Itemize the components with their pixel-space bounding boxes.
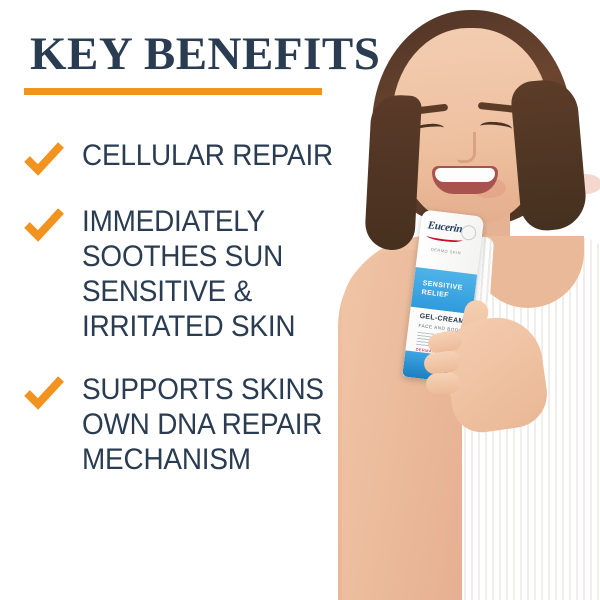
- model-hair-lock-left: [364, 94, 422, 251]
- checkmark-icon: [24, 142, 64, 176]
- page-title: KEY BENEFITS: [30, 28, 364, 80]
- poster-canvas: KEY BENEFITS CELLULAR REPAIR IMMEDIATELY…: [0, 0, 600, 600]
- list-item-label: IMMEDIATELY SOOTHES SUN SENSITIVE & IRRI…: [82, 204, 295, 344]
- model-hair-lock-right: [510, 77, 589, 232]
- list-item-label: CELLULAR REPAIR: [82, 138, 333, 173]
- product-range-name: SENSITIVE RELIEF: [421, 279, 463, 302]
- product-tube-top: Eucerin DERMO SKIN: [416, 209, 485, 274]
- model-teeth: [435, 168, 495, 182]
- list-item: CELLULAR REPAIR: [24, 138, 354, 176]
- product-claim: DERMO SKIN: [431, 247, 462, 256]
- checkmark-icon: [24, 208, 64, 242]
- model-nose: [457, 132, 476, 163]
- list-item: SUPPORTS SKINS OWN DNA REPAIR MECHANISM: [24, 372, 354, 477]
- title-underline-accent: [24, 88, 322, 95]
- model-photo: Eucerin DERMO SKIN SENSITIVE RELIEF GEL-…: [320, 0, 600, 600]
- benefits-list: CELLULAR REPAIR IMMEDIATELY SOOTHES SUN …: [24, 138, 354, 477]
- model-mouth: [432, 166, 498, 194]
- product-seal-icon: [460, 224, 477, 241]
- checkmark-icon: [24, 376, 64, 410]
- list-item: IMMEDIATELY SOOTHES SUN SENSITIVE & IRRI…: [24, 204, 354, 344]
- list-item-label: SUPPORTS SKINS OWN DNA REPAIR MECHANISM: [82, 372, 324, 477]
- title-block: KEY BENEFITS: [24, 28, 364, 95]
- model-finger: [425, 372, 460, 395]
